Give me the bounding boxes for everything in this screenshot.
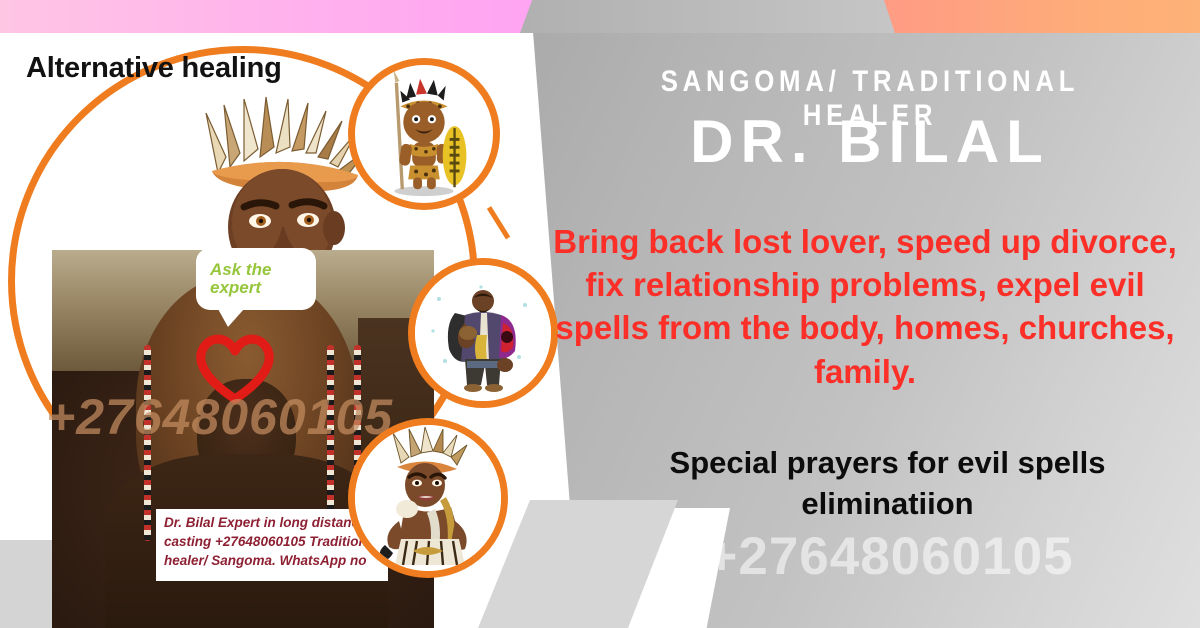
diviner-figure-icon: [415, 265, 551, 401]
special-prayers-text: Special prayers for evil spells eliminat…: [585, 443, 1190, 525]
top-bar-orange: [884, 0, 1200, 33]
healer-name-title: DR. BILAL: [558, 107, 1182, 176]
ask-the-expert-text: Ask the expert: [210, 261, 302, 297]
ghost-phone-number: +27648060105: [580, 526, 1200, 587]
ask-the-expert-bubble: Ask the expert: [196, 248, 316, 310]
circle-connector-line: [487, 206, 510, 239]
top-bar-grey: [520, 0, 900, 33]
photo-caption-line-2: casting +27648060105 Traditional: [164, 532, 382, 551]
alternative-healing-heading: Alternative healing: [26, 52, 282, 85]
photo-caption-line-3: healer/ Sangoma. WhatsApp no: [164, 551, 382, 570]
circle-crouching-warrior: [348, 418, 508, 578]
crouching-warrior-icon: [355, 425, 501, 571]
photo-watermark-phone: +27648060105: [46, 388, 393, 446]
top-bar-pink: [0, 0, 594, 33]
circle-diviner-figure: [408, 258, 558, 408]
zulu-warrior-cartoon-icon: [355, 65, 493, 203]
circle-zulu-warrior-cartoon: [348, 58, 500, 210]
services-text: Bring back lost lover, speed up divorce,…: [540, 220, 1190, 393]
bottom-left-grey-strip: [0, 540, 60, 628]
poster-canvas: Alternative healing: [0, 0, 1200, 628]
